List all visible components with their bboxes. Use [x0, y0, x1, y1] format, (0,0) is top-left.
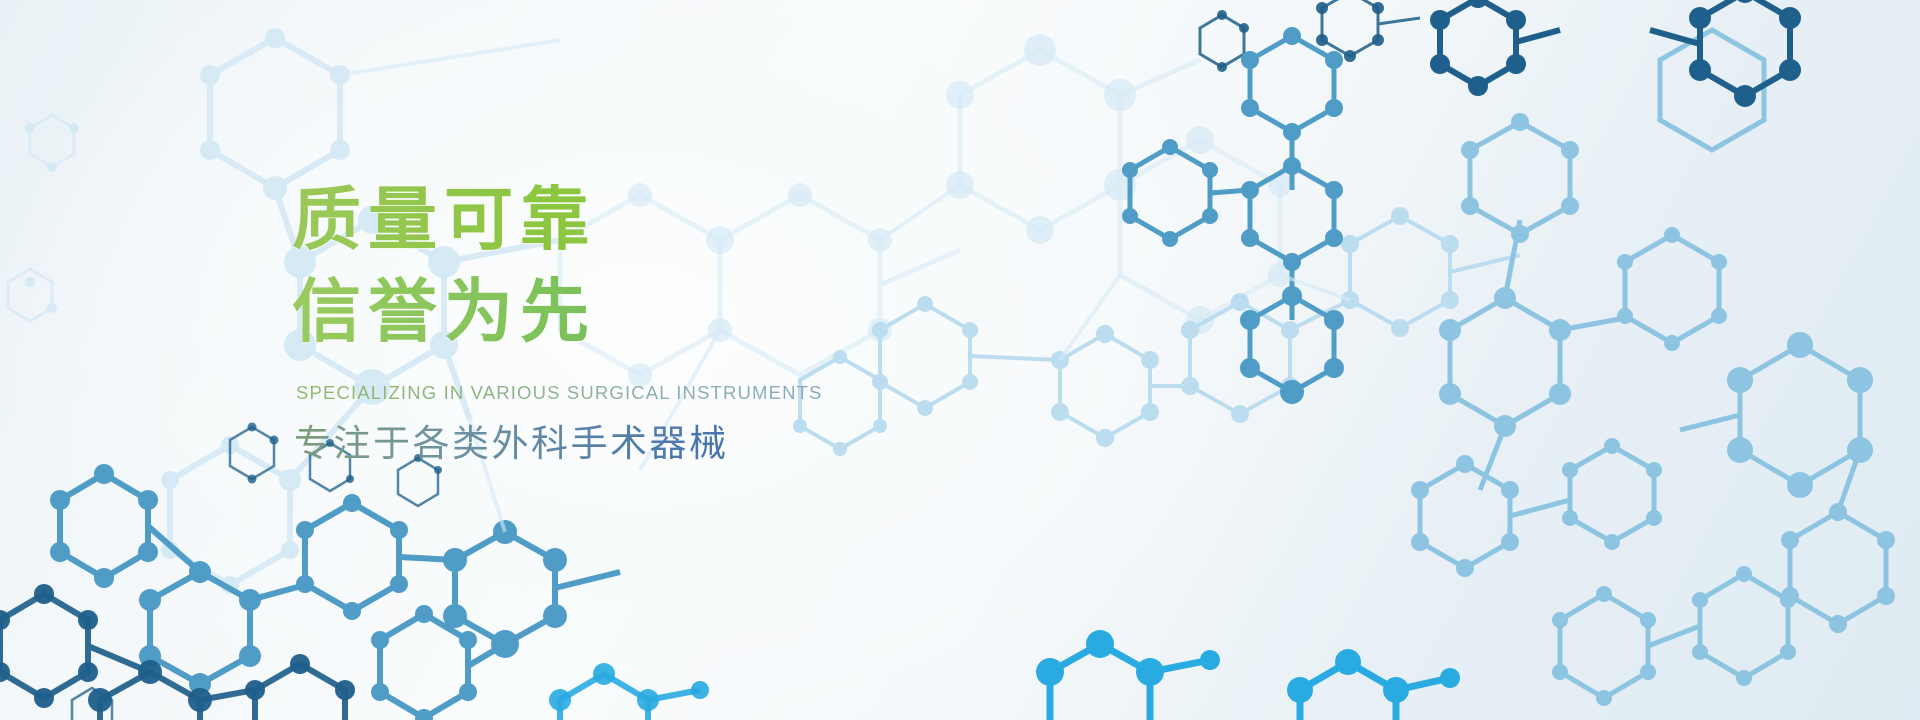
hero-copy-block: 质量可靠 信誉为先 SPECIALIZING IN VARIOUS SURGIC… [292, 176, 1052, 468]
headline-line-1: 质量可靠 [292, 176, 1052, 264]
subtitle-english: SPECIALIZING IN VARIOUS SURGICAL INSTRUM… [296, 382, 1052, 404]
hero-banner: .l1{stroke:#d6eaf6;fill:none} .l2{stroke… [0, 0, 1920, 720]
subtitle-chinese: 专注于各类外科手术器械 [294, 420, 1052, 468]
headline-line-2: 信誉为先 [292, 268, 1052, 356]
